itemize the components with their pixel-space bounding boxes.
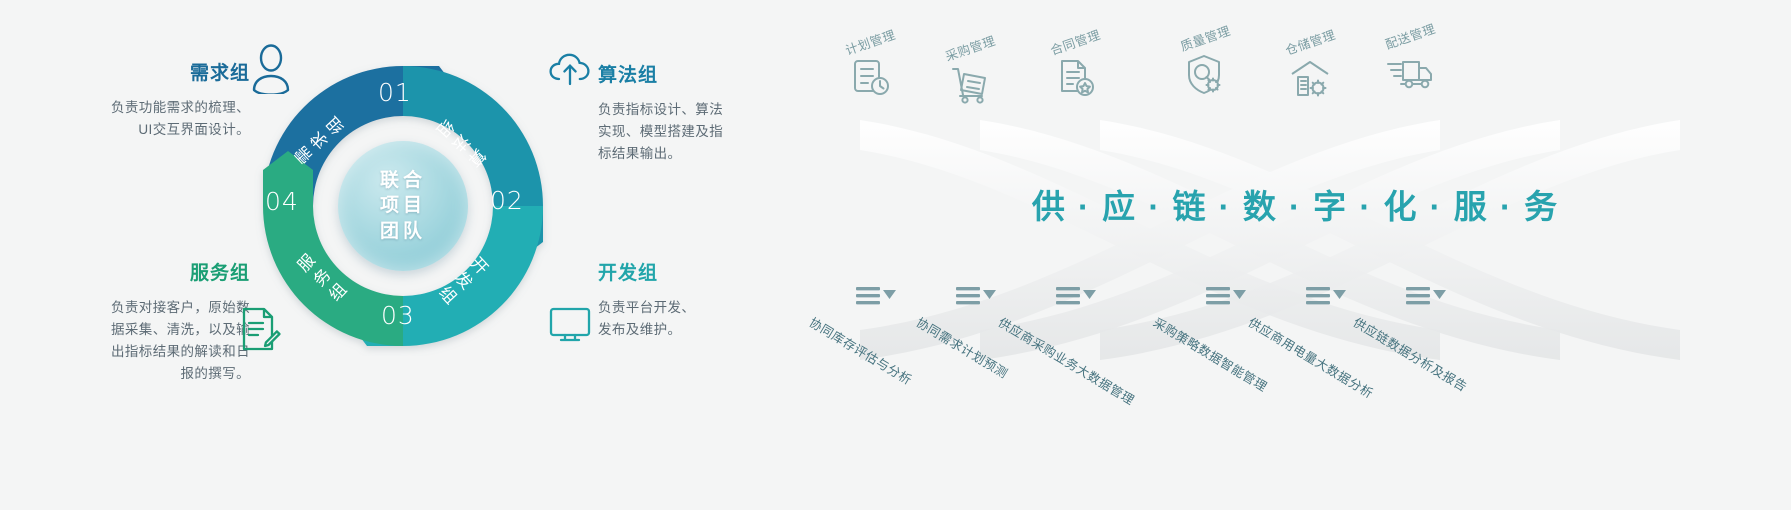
shield-gear-icon xyxy=(1145,54,1265,101)
top-node-purchase[interactable]: 采购管理 xyxy=(910,38,1030,109)
segment-number-02: 02 xyxy=(490,186,524,215)
group-desc-algorithm: 负责指标设计、算法实现、模型搭建及指标结果输出。 xyxy=(598,99,788,165)
team-donut-chart: 01 02 03 04 需求组 算法组 开发组 服务组 联合项目团队 xyxy=(253,56,553,356)
supply-chain-diagram: 供 · 应 · 链 · 数 · 字 · 化 · 服 · 务 计划管理 采购管理 … xyxy=(800,0,1791,510)
delivery-truck-icon xyxy=(1350,52,1470,97)
group-block-demand: 需求组 负责功能需求的梳理、UI交互界面设计。 xyxy=(30,58,250,141)
filter-icon xyxy=(1355,285,1495,312)
group-block-service: 服务组 负责对接客户，原始数据采集、清洗，以及输出指标结果的解读和日报的撰写。 xyxy=(30,258,250,384)
group-desc-service: 负责对接客户，原始数据采集、清洗，以及输出指标结果的解读和日报的撰写。 xyxy=(30,297,250,384)
group-desc-demand: 负责功能需求的梳理、UI交互界面设计。 xyxy=(30,97,250,141)
joint-project-team-diagram: 需求组 负责功能需求的梳理、UI交互界面设计。 服务组 负责对接客户，原始数据采… xyxy=(0,0,800,510)
cloud-upload-icon xyxy=(548,52,592,95)
group-desc-development: 负责平台开发、发布及维护。 xyxy=(598,297,788,341)
segment-number-04: 04 xyxy=(265,187,299,216)
filter-icon xyxy=(1005,285,1145,312)
group-block-algorithm: 算法组 负责指标设计、算法实现、模型搭建及指标结果输出。 xyxy=(598,60,788,165)
segment-number-03: 03 xyxy=(381,301,415,330)
bottom-node-chain-report[interactable]: 供应链数据分析及报告 xyxy=(1355,285,1495,332)
group-title-demand: 需求组 xyxy=(30,58,250,85)
bottom-node-supplier-bigdata[interactable]: 供应商采购业务大数据管理 xyxy=(1005,285,1145,332)
group-title-service: 服务组 xyxy=(30,258,250,285)
top-node-delivery[interactable]: 配送管理 xyxy=(1350,26,1470,97)
donut-center-core: 联合项目团队 xyxy=(338,141,468,271)
top-node-quality[interactable]: 质量管理 xyxy=(1145,28,1265,101)
segment-number-01: 01 xyxy=(378,78,412,107)
donut-center-text: 联合项目团队 xyxy=(380,168,426,243)
top-node-contract[interactable]: 合同管理 xyxy=(1015,32,1135,103)
group-title-development: 开发组 xyxy=(598,258,788,285)
group-title-algorithm: 算法组 xyxy=(598,60,788,87)
contract-star-icon xyxy=(1015,58,1135,103)
group-block-development: 开发组 负责平台开发、发布及维护。 xyxy=(598,258,788,341)
monitor-icon xyxy=(548,305,592,350)
supply-chain-title: 供 · 应 · 链 · 数 · 字 · 化 · 服 · 务 xyxy=(800,180,1791,228)
cart-box-icon xyxy=(910,64,1030,109)
